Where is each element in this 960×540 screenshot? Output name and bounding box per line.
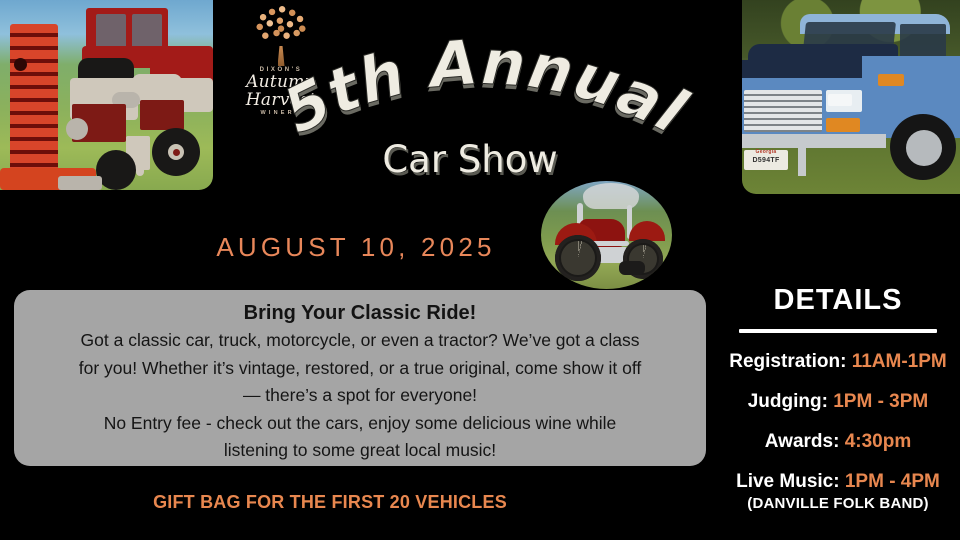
details-divider bbox=[739, 329, 937, 333]
description-line: listening to some great local music! bbox=[26, 437, 694, 465]
detail-row-live-music: Live Music: 1PM - 4PM bbox=[716, 471, 960, 493]
event-poster: Georgia D594TF DIXON'S Autumn Harvest WI… bbox=[0, 0, 960, 540]
band-name: (DANVILLE FOLK BAND) bbox=[716, 495, 960, 512]
license-plate: Georgia D594TF bbox=[744, 150, 788, 170]
detail-row-registration: Registration: 11AM-1PM bbox=[716, 351, 960, 373]
gift-bag-note: GIFT BAG FOR THE FIRST 20 VEHICLES bbox=[130, 492, 530, 513]
plate-state: Georgia bbox=[744, 150, 788, 155]
event-date: AUGUST 10, 2025 bbox=[196, 232, 516, 263]
description-line: — there’s a spot for everyone! bbox=[26, 382, 694, 410]
truck-photo: Georgia D594TF bbox=[742, 0, 960, 194]
tractor-photo bbox=[0, 0, 213, 190]
car-show-subtitle: Car Show bbox=[370, 138, 570, 181]
detail-value: 1PM - 4PM bbox=[845, 471, 940, 492]
detail-label: Registration: bbox=[729, 351, 846, 372]
detail-row-judging: Judging: 1PM - 3PM bbox=[716, 391, 960, 413]
svg-text:5th Annual: 5th Annual bbox=[272, 25, 698, 148]
detail-label: Awards: bbox=[765, 431, 840, 452]
details-title: DETAILS bbox=[716, 283, 960, 317]
motorcycle-photo bbox=[541, 181, 672, 289]
detail-label: Live Music: bbox=[736, 471, 839, 492]
description-line: Got a classic car, truck, motorcycle, or… bbox=[26, 327, 694, 355]
detail-value: 4:30pm bbox=[845, 431, 912, 452]
detail-row-awards: Awards: 4:30pm bbox=[716, 431, 960, 453]
plate-number: D594TF bbox=[752, 157, 779, 164]
description-heading: Bring Your Classic Ride! bbox=[26, 299, 694, 327]
description-line: for you! Whether it’s vintage, restored,… bbox=[26, 355, 694, 383]
description-panel: Bring Your Classic Ride! Got a classic c… bbox=[14, 290, 706, 466]
description-line: No Entry fee - check out the cars, enjoy… bbox=[26, 410, 694, 438]
detail-value: 1PM - 3PM bbox=[833, 391, 928, 412]
detail-value: 11AM-1PM bbox=[852, 351, 947, 372]
details-panel: DETAILS Registration: 11AM-1PM Judging: … bbox=[716, 283, 960, 512]
detail-label: Judging: bbox=[748, 391, 828, 412]
